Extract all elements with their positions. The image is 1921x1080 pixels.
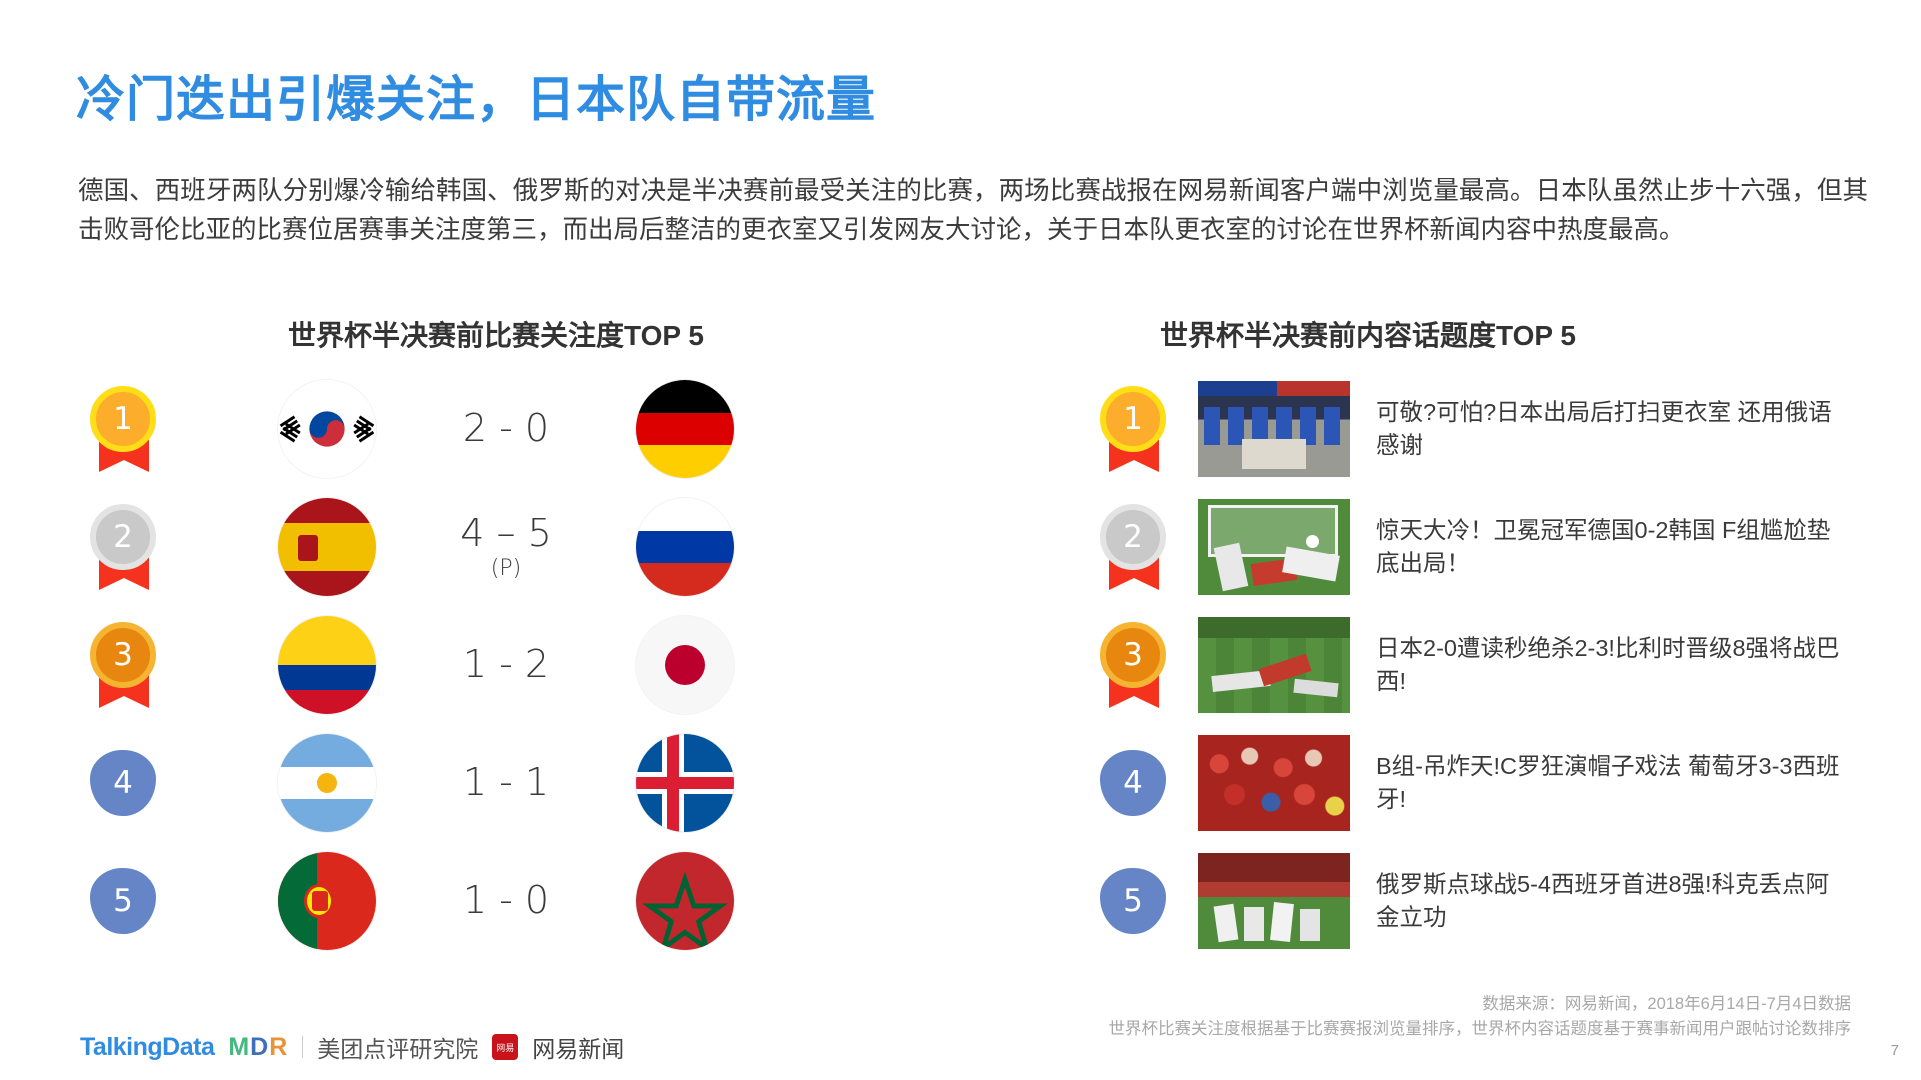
logo-divider	[302, 1036, 303, 1058]
rank-badge: 4	[70, 729, 178, 837]
medal-icon: 2	[90, 504, 158, 590]
rank-badge: 2	[70, 493, 178, 601]
rank-badge: 2	[1080, 493, 1188, 601]
pitch-players-thumbnail	[1198, 617, 1350, 713]
score-note: (P)	[376, 557, 636, 581]
rank-number: 5	[90, 868, 156, 934]
matches-panel: 1 2 - 0	[70, 370, 950, 960]
rank-number: 3	[1100, 622, 1166, 688]
score-text: 2 - 0	[463, 406, 549, 450]
rank-number: 4	[1100, 750, 1166, 816]
flag-germany-icon	[636, 380, 734, 478]
score-text: 1 - 2	[463, 642, 549, 686]
rank-number: 1	[90, 386, 156, 452]
medal-icon: 3	[1100, 622, 1168, 708]
rank-badge: 5	[1080, 847, 1188, 955]
netease-logo: 网易新闻	[532, 1030, 624, 1064]
news-headline[interactable]: 俄罗斯点球战5-4西班牙首进8强!科克丢点阿金立功	[1376, 868, 1846, 934]
topics-panel: 1 可敬?可怕?日本出局后打扫更衣室 还用俄语感谢	[1080, 370, 1870, 960]
section-heading-topics: 世界杯半决赛前内容话题度TOP 5	[1160, 314, 1576, 354]
list-item[interactable]: 1 可敬?可怕?日本出局后打扫更衣室 还用俄语感谢	[1080, 370, 1870, 488]
flag-morocco-icon	[636, 852, 734, 950]
flag-russia-icon	[636, 498, 734, 596]
match-score: 1 - 1	[376, 762, 636, 804]
logo-bar: TalkingData MDR 美团点评研究院 网易 网易新闻	[80, 1030, 624, 1064]
table-row: 5 1 - 0	[70, 842, 950, 960]
source-note: 数据来源：网易新闻，2018年6月14日-7月4日数据 世界杯比赛关注度根据基于…	[1109, 992, 1852, 1042]
rank-number: 3	[90, 622, 156, 688]
source-line-1: 数据来源：网易新闻，2018年6月14日-7月4日数据	[1109, 992, 1852, 1017]
list-item[interactable]: 2 惊天大冷！卫冕冠军德国0-2韩国 F组尴尬垫底出局！	[1080, 488, 1870, 606]
list-item[interactable]: 4 B组-吊炸天!C罗狂演帽子戏法 葡萄牙3-3西班牙!	[1080, 724, 1870, 842]
news-headline[interactable]: 日本2-0遭读秒绝杀2-3!比利时晋级8强将战巴西!	[1376, 632, 1846, 698]
flag-portugal-icon	[278, 852, 376, 950]
medal-icon: 2	[1100, 504, 1168, 590]
table-row: 3 1 - 2	[70, 606, 950, 724]
rank-badge: 3	[70, 611, 178, 719]
score-text: 1 - 0	[463, 878, 549, 922]
mdr-logo: MDR	[228, 1033, 288, 1062]
section-heading-matches: 世界杯半决赛前比赛关注度TOP 5	[288, 314, 704, 354]
meituan-logo: 美团点评研究院	[317, 1030, 478, 1064]
celebration-thumbnail	[1198, 853, 1350, 949]
medal-icon: 5	[90, 858, 158, 944]
table-row: 2 4 – 5 (P)	[70, 488, 950, 606]
netease-mark-icon: 网易	[492, 1034, 518, 1060]
flag-korea-icon	[278, 380, 376, 478]
score-text: 4 – 5	[460, 511, 552, 555]
match-score: 1 - 0	[376, 880, 636, 922]
flag-colombia-icon	[278, 616, 376, 714]
match-score: 1 - 2	[376, 644, 636, 686]
list-item[interactable]: 5 俄罗斯点球战5-4西班牙首进8强!科克丢点阿金立功	[1080, 842, 1870, 960]
rank-number: 2	[1100, 504, 1166, 570]
goal-save-thumbnail	[1198, 499, 1350, 595]
talkingdata-logo: TalkingData	[80, 1033, 214, 1062]
locker-room-thumbnail	[1198, 381, 1350, 477]
source-line-2: 世界杯比赛关注度根据基于比赛赛报浏览量排序，世界杯内容话题度基于赛事新闻用户跟帖…	[1109, 1017, 1852, 1042]
table-row: 1 2 - 0	[70, 370, 950, 488]
table-row: 4 1 - 1	[70, 724, 950, 842]
rank-badge: 4	[1080, 729, 1188, 837]
page-title: 冷门迭出引爆关注，日本队自带流量	[76, 60, 876, 131]
flag-iceland-icon	[636, 734, 734, 832]
medal-icon: 4	[1100, 740, 1168, 826]
rank-badge: 1	[70, 375, 178, 483]
red-crowd-thumbnail	[1198, 735, 1350, 831]
news-headline[interactable]: B组-吊炸天!C罗狂演帽子戏法 葡萄牙3-3西班牙!	[1376, 750, 1846, 816]
match-score: 4 – 5 (P)	[376, 513, 636, 581]
rank-number: 5	[1100, 868, 1166, 934]
rank-badge: 3	[1080, 611, 1188, 719]
page-number: 7	[1891, 1042, 1899, 1059]
score-text: 1 - 1	[463, 760, 549, 804]
medal-icon: 3	[90, 622, 158, 708]
flag-spain-icon	[278, 498, 376, 596]
medal-icon: 4	[90, 740, 158, 826]
flag-japan-icon	[636, 616, 734, 714]
match-score: 2 - 0	[376, 408, 636, 450]
medal-icon: 1	[90, 386, 158, 472]
slide-root: 冷门迭出引爆关注，日本队自带流量 德国、西班牙两队分别爆冷输给韩国、俄罗斯的对决…	[0, 0, 1921, 1080]
rank-badge: 5	[70, 847, 178, 955]
medal-icon: 5	[1100, 858, 1168, 944]
flag-argentina-icon	[278, 734, 376, 832]
news-headline[interactable]: 可敬?可怕?日本出局后打扫更衣室 还用俄语感谢	[1376, 396, 1846, 462]
intro-paragraph: 德国、西班牙两队分别爆冷输给韩国、俄罗斯的对决是半决赛前最受关注的比赛，两场比赛…	[78, 172, 1868, 250]
rank-badge: 1	[1080, 375, 1188, 483]
list-item[interactable]: 3 日本2-0遭读秒绝杀2-3!比利时晋级8强将战巴西!	[1080, 606, 1870, 724]
medal-icon: 1	[1100, 386, 1168, 472]
rank-number: 1	[1100, 386, 1166, 452]
rank-number: 2	[90, 504, 156, 570]
rank-number: 4	[90, 750, 156, 816]
news-headline[interactable]: 惊天大冷！卫冕冠军德国0-2韩国 F组尴尬垫底出局！	[1376, 514, 1846, 580]
